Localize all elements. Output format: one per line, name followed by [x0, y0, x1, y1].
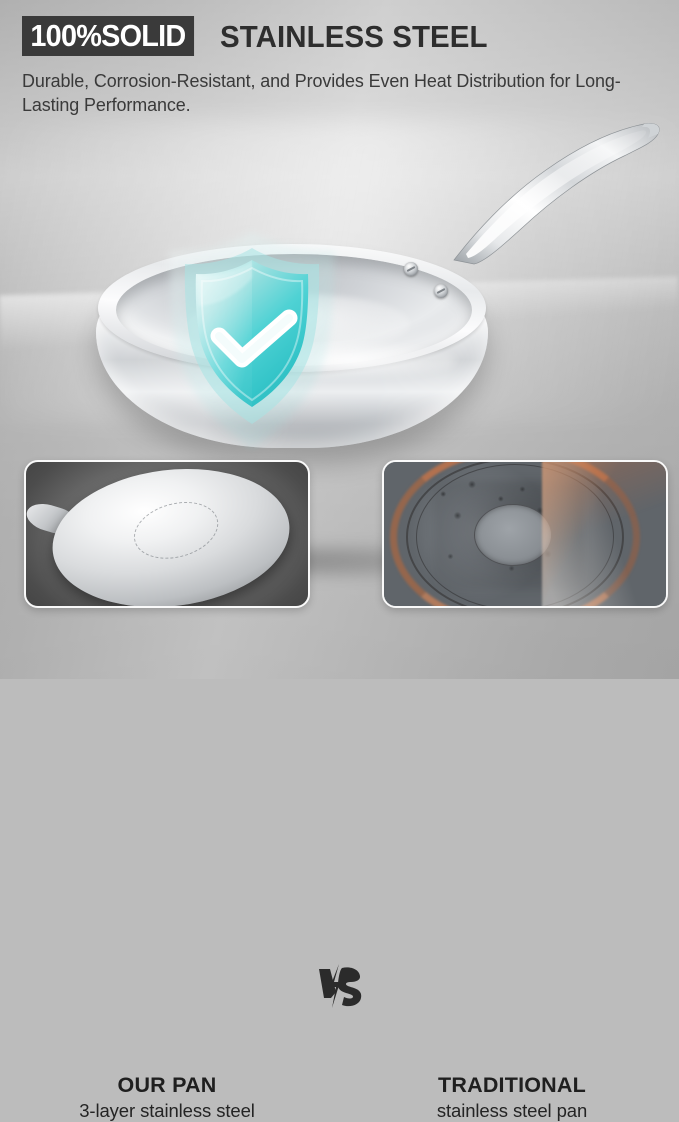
solid-badge: 100%SOLID	[22, 16, 194, 56]
header: 100%SOLID STAINLESS STEEL Durable, Corro…	[22, 16, 665, 118]
clean-pan-photo	[26, 462, 308, 606]
rust-streaks-layer	[542, 460, 668, 608]
hero-product-image	[0, 108, 679, 458]
our-pan-photo-card	[24, 460, 310, 608]
title-row: 100%SOLID STAINLESS STEEL	[22, 16, 665, 56]
rust-center-disc	[474, 504, 552, 566]
our-pan-caption: OUR PAN 3-layer stainless steel	[7, 1073, 327, 1122]
pan-handle-icon	[448, 114, 679, 264]
rivet-icon	[404, 262, 418, 276]
traditional-pan-caption: TRADITIONAL stainless steel pan	[352, 1073, 672, 1122]
traditional-pan-photo-card	[382, 460, 668, 608]
rivet-icon	[434, 284, 448, 298]
shield-check-icon	[152, 226, 352, 456]
vs-badge	[315, 960, 367, 1012]
our-pan-subtitle: 3-layer stainless steel	[7, 1099, 327, 1122]
traditional-pan-title: TRADITIONAL	[352, 1073, 672, 1097]
rusted-pan-photo	[384, 462, 666, 606]
traditional-pan-subtitle: stainless steel pan	[352, 1099, 672, 1122]
clean-pan-bottom	[45, 460, 298, 608]
our-pan-title: OUR PAN	[7, 1073, 327, 1097]
page-title: STAINLESS STEEL	[220, 21, 488, 52]
comparison-section: OUR PAN 3-layer stainless steel TRADITIO…	[0, 455, 679, 679]
